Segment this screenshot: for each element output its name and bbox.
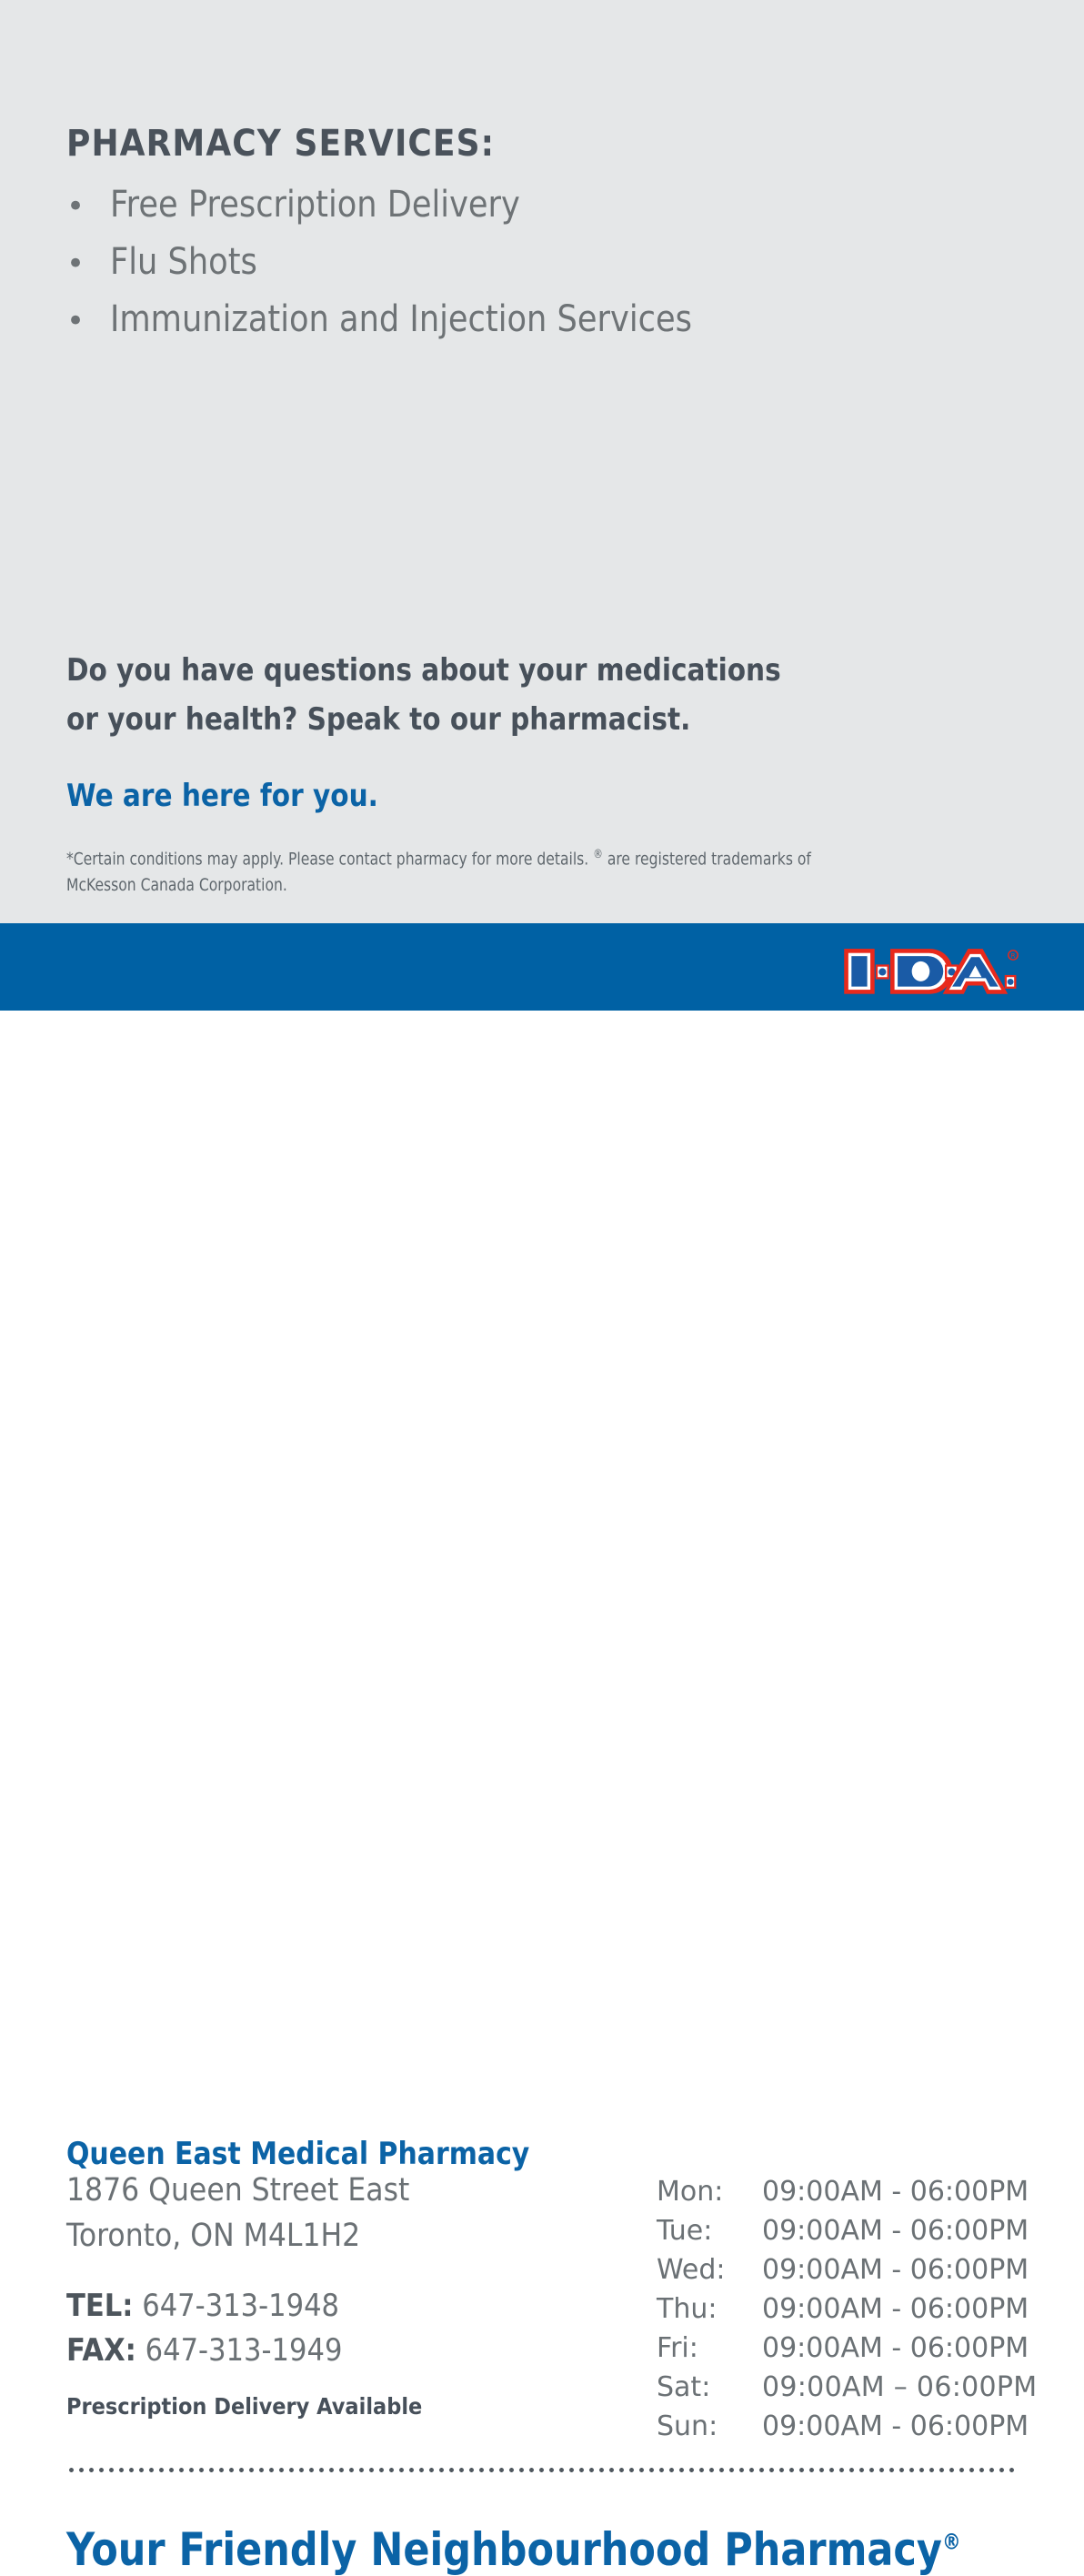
fax-label: FAX: <box>66 2332 136 2369</box>
disclaimer-text-pre: *Certain conditions may apply. Please co… <box>66 849 593 869</box>
service-label: Flu Shots <box>110 235 257 290</box>
hours-time: 09:00AM - 06:00PM <box>762 2407 1037 2446</box>
table-row: Tue: 09:00AM - 06:00PM <box>657 2211 1037 2250</box>
registered-mark-icon: ® <box>593 848 603 861</box>
table-row: Sat: 09:00AM – 06:00PM <box>657 2368 1037 2407</box>
fax-row: FAX: 647-313-1949 <box>66 2329 525 2373</box>
services-heading: PHARMACY SERVICES: <box>66 123 495 165</box>
hours-day: Thu: <box>657 2289 762 2329</box>
disclaimer-text-post: are registered trademarks of <box>603 849 811 869</box>
svg-text:R: R <box>1011 952 1016 960</box>
contact-group: TEL: 647-313-1948 FAX: 647-313-1949 <box>66 2284 576 2373</box>
delivery-availability-note: Prescription Delivery Available <box>66 2393 422 2420</box>
disclaimer-line-1: *Certain conditions may apply. Please co… <box>66 841 812 872</box>
service-label: Immunization and Injection Services <box>110 292 692 347</box>
list-item: • Free Prescription Delivery <box>66 177 771 235</box>
hours-time: 09:00AM – 06:00PM <box>762 2368 1037 2407</box>
hours-time: 09:00AM - 06:00PM <box>762 2172 1037 2211</box>
telephone-value[interactable]: 647-313-1948 <box>142 2288 339 2324</box>
table-row: Wed: 09:00AM - 06:00PM <box>657 2250 1037 2289</box>
hours-time: 09:00AM - 06:00PM <box>762 2250 1037 2289</box>
address-line-1: 1876 Queen Street East <box>66 2168 525 2213</box>
hours-day: Sun: <box>657 2407 762 2446</box>
hours-time: 09:00AM - 06:00PM <box>762 2289 1037 2329</box>
service-label: Free Prescription Delivery <box>110 177 520 233</box>
table-row: Thu: 09:00AM - 06:00PM <box>657 2289 1037 2329</box>
hours-time: 09:00AM - 06:00PM <box>762 2211 1037 2250</box>
hours-time: 09:00AM - 06:00PM <box>762 2329 1037 2368</box>
services-list: • Free Prescription Delivery • Flu Shots… <box>66 177 771 349</box>
table-row: Mon: 09:00AM - 06:00PM <box>657 2172 1037 2211</box>
bullet-icon: • <box>66 179 110 235</box>
pharmacy-services-panel: PHARMACY SERVICES: • Free Prescription D… <box>0 0 1084 923</box>
address-line-2: Toronto, ON M4L1H2 <box>66 2213 525 2259</box>
question-line-2: or your health? Speak to our pharmacist. <box>66 695 826 744</box>
telephone-row: TEL: 647-313-1948 <box>66 2284 525 2329</box>
registered-mark-icon: ® <box>942 2529 961 2554</box>
list-item: • Immunization and Injection Services <box>66 292 771 349</box>
hours-day: Sat: <box>657 2368 762 2407</box>
bullet-icon: • <box>66 236 110 292</box>
hours-day: Wed: <box>657 2250 762 2289</box>
legal-disclaimer: *Certain conditions may apply. Please co… <box>66 841 976 899</box>
disclaimer-line-2: McKesson Canada Corporation. <box>66 872 812 899</box>
list-item: • Flu Shots <box>66 235 771 292</box>
hours-day: Fri: <box>657 2329 762 2368</box>
tagline-text: Your Friendly Neighbourhood Pharmacy <box>66 2523 942 2576</box>
store-info-section: Queen East Medical Pharmacy 1876 Queen S… <box>0 1011 1084 1624</box>
store-contact-column: 1876 Queen Street East Toronto, ON M4L1H… <box>66 2168 576 2373</box>
table-row: Sun: 09:00AM - 06:00PM <box>657 2407 1037 2446</box>
bullet-icon: • <box>66 294 110 349</box>
dotted-divider <box>66 2467 1019 2473</box>
fax-value[interactable]: 647-313-1949 <box>146 2332 343 2369</box>
table-row: Fri: 09:00AM - 06:00PM <box>657 2329 1037 2368</box>
question-line-1: Do you have questions about your medicat… <box>66 646 826 695</box>
brand-tagline: Your Friendly Neighbourhood Pharmacy® <box>66 2523 961 2576</box>
ida-logo: R <box>840 941 1022 996</box>
here-for-you-callout: We are here for you. <box>66 778 378 814</box>
hours-day: Tue: <box>657 2211 762 2250</box>
hours-day: Mon: <box>657 2172 762 2211</box>
store-hours-table: Mon: 09:00AM - 06:00PM Tue: 09:00AM - 06… <box>657 2172 1037 2446</box>
pharmacist-question-block: Do you have questions about your medicat… <box>66 646 939 744</box>
telephone-label: TEL: <box>66 2288 134 2324</box>
